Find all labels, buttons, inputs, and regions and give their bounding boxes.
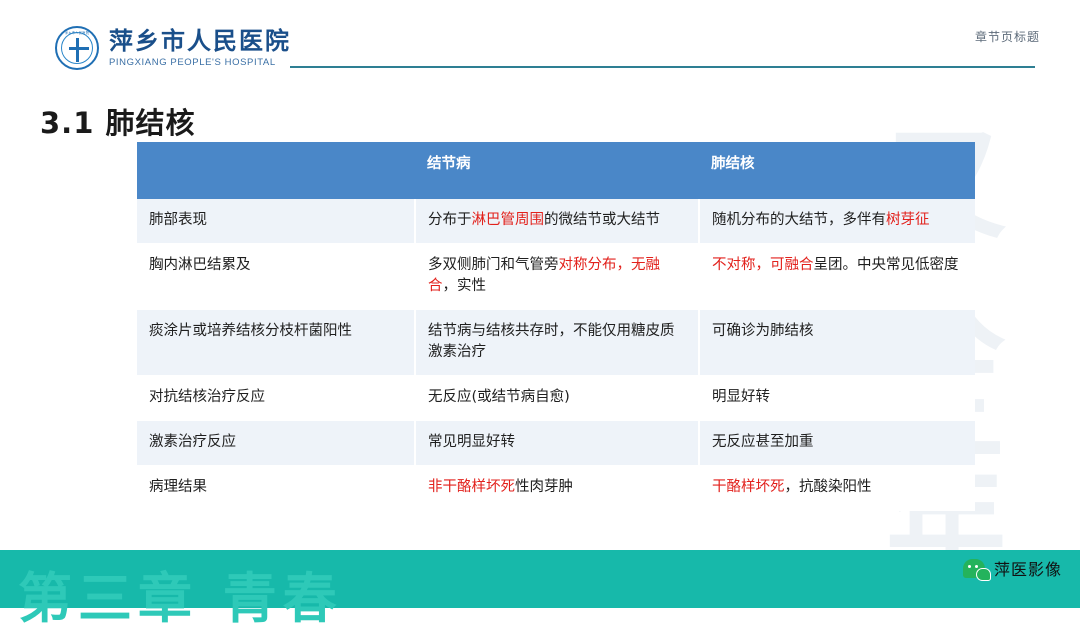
table-cell-tuberculosis: 随机分布的大结节，多伴有树芽征	[699, 199, 975, 244]
hospital-name-en: PINGXIANG PEOPLE'S HOSPITAL	[109, 57, 291, 68]
table-cell-feature: 激素治疗反应	[137, 421, 415, 466]
header-divider	[290, 66, 1035, 68]
highlighted-text: 干酪样坏死	[712, 479, 785, 495]
table-row: 胸内淋巴结累及多双侧肺门和气管旁对称分布，无融合，实性不对称，可融合呈团。中央常…	[137, 244, 975, 310]
emblem-micro-text: 萍乡市人民医院	[57, 30, 97, 35]
table-cell-tuberculosis: 可确诊为肺结核	[699, 310, 975, 376]
table-cell-tuberculosis: 无反应甚至加重	[699, 421, 975, 466]
table-row: 病理结果非干酪样坏死性肉芽肿干酪样坏死，抗酸染阳性	[137, 466, 975, 511]
table-body: 肺部表现分布于淋巴管周围的微结节或大结节随机分布的大结节，多伴有树芽征胸内淋巴结…	[137, 199, 975, 511]
cell-text: 无反应(或结节病自愈)	[428, 389, 570, 405]
table-row: 肺部表现分布于淋巴管周围的微结节或大结节随机分布的大结节，多伴有树芽征	[137, 199, 975, 244]
hospital-logo: 萍乡市人民医院 萍乡市人民医院 PINGXIANG PEOPLE'S HOSPI…	[55, 26, 291, 70]
comparison-table-container: 结节病 肺结核 肺部表现分布于淋巴管周围的微结节或大结节随机分布的大结节，多伴有…	[137, 142, 975, 511]
slide-header: 萍乡市人民医院 萍乡市人民医院 PINGXIANG PEOPLE'S HOSPI…	[0, 0, 1080, 86]
cell-text: 可确诊为肺结核	[712, 323, 814, 339]
footer-band-text: 第三章 青春	[18, 554, 343, 633]
table-cell-sarcoidosis: 无反应(或结节病自愈)	[415, 376, 699, 421]
table-header-cell-0	[137, 142, 415, 199]
cell-text: 性肉芽肿	[515, 479, 573, 495]
table-cell-feature: 痰涂片或培养结核分枝杆菌阳性	[137, 310, 415, 376]
table-cell-tuberculosis: 不对称，可融合呈团。中央常见低密度	[699, 244, 975, 310]
cell-text: 常见明显好转	[428, 434, 515, 450]
table-cell-feature: 病理结果	[137, 466, 415, 511]
wechat-icon	[963, 559, 985, 578]
cell-text: 明显好转	[712, 389, 770, 405]
table-cell-feature: 对抗结核治疗反应	[137, 376, 415, 421]
wechat-account-badge: 萍医影像	[963, 556, 1062, 580]
table-cell-sarcoidosis: 非干酪样坏死性肉芽肿	[415, 466, 699, 511]
highlighted-text: 树芽征	[886, 212, 930, 228]
cell-text: 结节病与结核共存时，不能仅用糖皮质激素治疗	[428, 323, 675, 360]
table-cell-sarcoidosis: 常见明显好转	[415, 421, 699, 466]
cell-text: ，抗酸染阳性	[785, 479, 872, 495]
wechat-account-name: 萍医影像	[994, 556, 1062, 580]
cell-text: 多双侧肺门和气管旁	[428, 257, 559, 273]
cell-text: 分布于	[428, 212, 472, 228]
table-cell-sarcoidosis: 多双侧肺门和气管旁对称分布，无融合，实性	[415, 244, 699, 310]
table-cell-feature: 胸内淋巴结累及	[137, 244, 415, 310]
cell-text: ，实性	[443, 278, 487, 294]
hospital-emblem-icon: 萍乡市人民医院	[55, 26, 99, 70]
comparison-table: 结节病 肺结核 肺部表现分布于淋巴管周围的微结节或大结节随机分布的大结节，多伴有…	[137, 142, 975, 511]
table-cell-tuberculosis: 干酪样坏死，抗酸染阳性	[699, 466, 975, 511]
table-cell-feature: 肺部表现	[137, 199, 415, 244]
hospital-name-cn: 萍乡市人民医院	[109, 28, 291, 54]
table-header-cell-2: 肺结核	[699, 142, 975, 199]
table-header-row: 结节病 肺结核	[137, 142, 975, 199]
table-header-cell-1: 结节病	[415, 142, 699, 199]
cell-text: 随机分布的大结节，多伴有	[712, 212, 886, 228]
highlighted-text: 不对称，可融合	[712, 257, 814, 273]
cell-text: 无反应甚至加重	[712, 434, 814, 450]
footer-band: 第三章 青春	[0, 550, 1080, 608]
page-title: 3.1 肺结核	[40, 100, 195, 142]
cell-text: 呈团。中央常见低密度	[814, 257, 959, 273]
table-cell-sarcoidosis: 结节病与结核共存时，不能仅用糖皮质激素治疗	[415, 310, 699, 376]
highlighted-text: 淋巴管周围	[472, 212, 545, 228]
highlighted-text: 非干酪样坏死	[428, 479, 515, 495]
section-label: 章节页标题	[975, 28, 1040, 45]
table-row: 对抗结核治疗反应无反应(或结节病自愈)明显好转	[137, 376, 975, 421]
table-cell-tuberculosis: 明显好转	[699, 376, 975, 421]
table-cell-sarcoidosis: 分布于淋巴管周围的微结节或大结节	[415, 199, 699, 244]
cell-text: 的微结节或大结节	[544, 212, 660, 228]
table-row: 痰涂片或培养结核分枝杆菌阳性结节病与结核共存时，不能仅用糖皮质激素治疗可确诊为肺…	[137, 310, 975, 376]
table-row: 激素治疗反应常见明显好转无反应甚至加重	[137, 421, 975, 466]
